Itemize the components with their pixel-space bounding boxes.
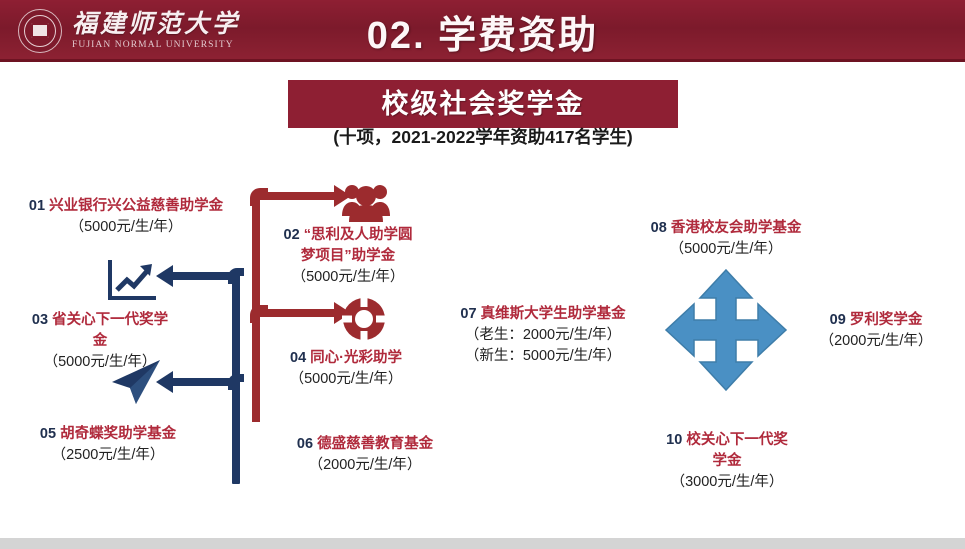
item-05: 05 胡奇蝶奖助学基金 （2500元/生/年） [0,424,216,466]
item-09-number: 09 [830,312,850,328]
item-03-name-line1: 省关心下一代奖学 [52,312,168,328]
item-09-name: 罗利奖学金 [850,312,923,328]
item-05-number: 05 [40,426,60,442]
banner-subtitle: (十项，2021-2022学年资助417名学生) [258,126,708,148]
item-01-amount: （5000元/生/年） [2,217,250,238]
item-09: 09 罗利奖学金 （2000元/生/年） [790,310,962,352]
item-10-name-line2: 学金 [608,451,846,472]
item-07: 07 真维斯大学生助学基金 （老生：2000元/生/年） （新生：5000元/生… [430,304,656,367]
item-07-amount-1: （老生：2000元/生/年） [430,325,656,346]
growth-chart-icon [106,258,158,307]
item-03-title-line1: 03 省关心下一代奖学 [0,310,200,331]
item-01-title: 01 兴业银行兴公益慈善助学金 [2,196,250,217]
people-group-icon [340,182,392,229]
item-07-number: 07 [460,306,480,322]
university-seal-icon [18,9,62,53]
item-02-name-line2: 梦项目”助学金 [258,246,438,267]
item-08-name: 香港校友会助学基金 [671,220,802,236]
item-06-amount: （2000元/生/年） [252,455,478,476]
lifebuoy-icon [342,297,386,346]
navy-branch-01 [172,272,238,280]
red-branch-04 [256,309,336,317]
item-06: 06 德盛慈善教育基金 （2000元/生/年） [252,434,478,476]
university-logo: 福建师范大学 FUJIAN NORMAL UNIVERSITY [18,8,240,54]
item-10: 10 校关心下一代奖 学金 （3000元/生/年） [608,430,846,493]
banner-title: 校级社会奖学金 [288,82,678,126]
item-03: 03 省关心下一代奖学 金 （5000元/生/年） [0,310,200,373]
page-header: 福建师范大学 FUJIAN NORMAL UNIVERSITY 02. 学费资助 [0,0,965,62]
red-branch-02 [256,192,336,200]
bottom-bar [0,538,965,549]
item-06-title: 06 德盛慈善教育基金 [252,434,478,455]
item-08-amount: （5000元/生/年） [606,239,846,260]
item-04-number: 04 [290,350,310,366]
item-05-title: 05 胡奇蝶奖助学基金 [0,424,216,445]
item-01: 01 兴业银行兴公益慈善助学金 （5000元/生/年） [2,196,250,238]
item-01-name: 兴业银行兴公益慈善助学金 [49,198,223,214]
item-04-name: 同心·光彩助学 [310,350,402,366]
item-06-number: 06 [297,436,317,452]
item-07-title: 07 真维斯大学生助学基金 [430,304,656,325]
university-name-en: FUJIAN NORMAL UNIVERSITY [72,40,240,50]
item-02: 02 “思利及人助学圆 梦项目”助学金 （5000元/生/年） [258,225,438,288]
navy-arrowhead-01 [156,265,173,287]
item-10-title-line1: 10 校关心下一代奖 [608,430,846,451]
item-08-title: 08 香港校友会助学基金 [606,218,846,239]
item-04-amount: （5000元/生/年） [258,369,434,390]
item-02-amount: （5000元/生/年） [258,267,438,288]
item-02-title-line1: 02 “思利及人助学圆 [258,225,438,246]
item-04: 04 同心·光彩助学 （5000元/生/年） [258,348,434,390]
item-03-amount: （5000元/生/年） [0,352,200,373]
item-10-number: 10 [666,432,686,448]
four-way-arrow-icon [664,268,788,397]
item-09-amount: （2000元/生/年） [790,331,962,352]
item-03-name-line2: 金 [0,331,200,352]
item-07-amount-2: （新生：5000元/生/年） [430,346,656,367]
navy-branch-03 [172,378,238,386]
item-07-name: 真维斯大学生助学基金 [481,306,626,322]
item-06-name: 德盛慈善教育基金 [317,436,433,452]
university-name-cn: 福建师范大学 [72,12,240,38]
item-09-title: 09 罗利奖学金 [790,310,962,331]
university-name-block: 福建师范大学 FUJIAN NORMAL UNIVERSITY [72,12,240,49]
item-02-number: 02 [284,227,304,243]
item-08-number: 08 [651,220,671,236]
item-05-amount: （2500元/生/年） [0,445,216,466]
item-04-title: 04 同心·光彩助学 [258,348,434,369]
item-02-name-line1: “思利及人助学圆 [304,227,413,243]
item-10-name-line1: 校关心下一代奖 [686,432,788,448]
item-05-name: 胡奇蝶奖助学基金 [60,426,176,442]
item-08: 08 香港校友会助学基金 （5000元/生/年） [606,218,846,260]
item-03-number: 03 [32,312,52,328]
item-01-number: 01 [29,198,49,214]
item-10-amount: （3000元/生/年） [608,472,846,493]
